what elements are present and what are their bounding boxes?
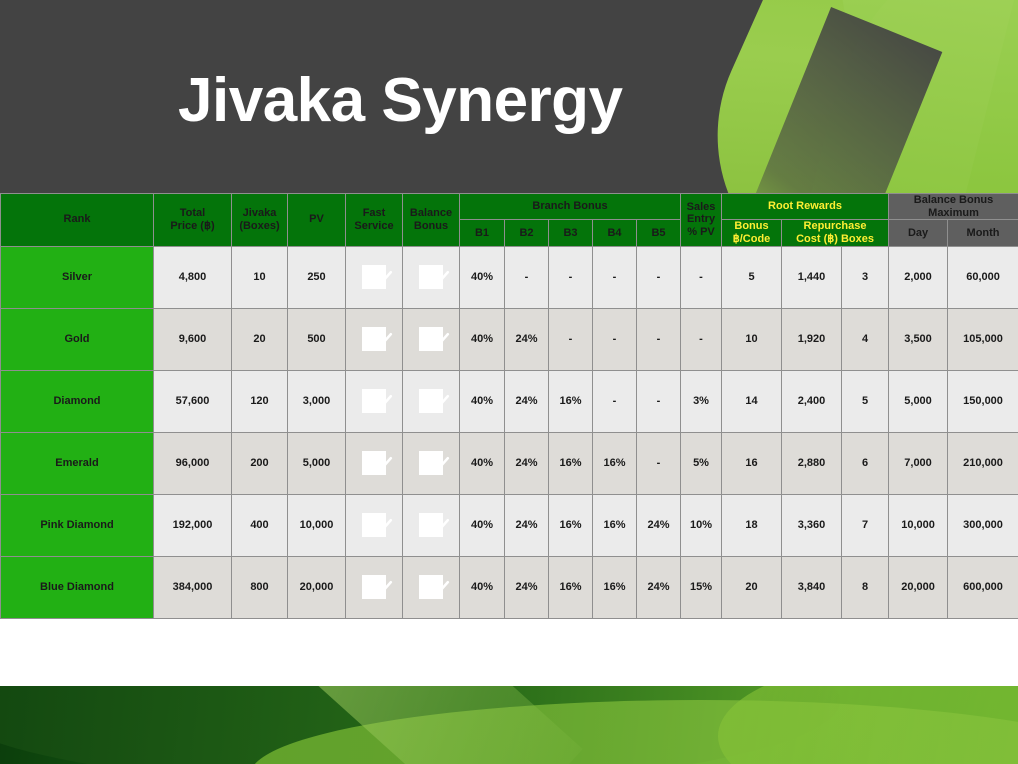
cell-balance-bonus [403,432,460,494]
check-mark-icon [346,495,402,556]
slide-canvas: Jivaka Synergy Rank Total Price (฿) [0,0,1018,764]
table-row: Gold9,6002050040%24%----101,92043,500105… [1,308,1018,370]
cell-total-price: 384,000 [154,556,232,618]
cell-pv: 10,000 [288,494,346,556]
cell-b3: - [549,308,593,370]
cell-bonus-code: 20 [722,556,782,618]
table-row: Diamond57,6001203,00040%24%16%--3%142,40… [1,370,1018,432]
sales-entry-line2: Entry [687,213,715,225]
bottom-decoration-band [0,686,1018,764]
check-mark-icon [346,309,402,370]
check-mark-icon [403,371,459,432]
cell-balance-bonus-day: 5,000 [889,370,948,432]
cell-jivaka-boxes: 200 [232,432,288,494]
cell-b5: - [637,246,681,308]
cell-b1: 40% [460,556,505,618]
repurchase-line1: Repurchase [804,220,867,232]
cell-total-price: 192,000 [154,494,232,556]
cell-fast-service [346,246,403,308]
col-header-b3: B3 [549,220,593,246]
cell-fast-service [346,370,403,432]
cell-pv: 5,000 [288,432,346,494]
cell-repurchase-boxes: 4 [842,308,889,370]
cell-jivaka-boxes: 800 [232,556,288,618]
cell-fast-service [346,494,403,556]
cell-jivaka-boxes: 20 [232,308,288,370]
cell-total-price: 96,000 [154,432,232,494]
cell-b2: 24% [505,494,549,556]
cell-b1: 40% [460,308,505,370]
total-price-line2: Price (฿) [170,220,214,232]
bonus-code-line1: Bonus [734,220,768,232]
cell-repurchase-boxes: 7 [842,494,889,556]
cell-balance-bonus [403,494,460,556]
cell-sales-entry-pv: 5% [681,432,722,494]
bonus-code-line2: ฿/Code [733,233,771,245]
col-header-fast-service: Fast Service [346,194,403,247]
table-row: Blue Diamond384,00080020,00040%24%16%16%… [1,556,1018,618]
cell-rank: Pink Diamond [1,494,154,556]
cell-pv: 250 [288,246,346,308]
cell-b2: 24% [505,370,549,432]
col-header-rank: Rank [1,194,154,247]
cell-balance-bonus-day: 3,500 [889,308,948,370]
sales-entry-line1: Sales [687,201,716,213]
col-header-bonus-code: Bonus ฿/Code [722,220,782,246]
cell-b4: 16% [593,556,637,618]
compensation-table: Rank Total Price (฿) Jivaka (Boxes) PV F… [0,193,1018,619]
cell-b4: - [593,370,637,432]
cell-b4: - [593,308,637,370]
col-header-day: Day [889,220,948,246]
dark-shadow-decoration [734,7,943,193]
cell-balance-bonus [403,556,460,618]
repurchase-line2: Cost (฿) Boxes [796,233,874,245]
green-ribbon-decoration-3 [790,0,1015,193]
cell-pv: 500 [288,308,346,370]
col-header-balance-bonus: Balance Bonus [403,194,460,247]
cell-b4: 16% [593,494,637,556]
cell-balance-bonus [403,370,460,432]
cell-fast-service [346,556,403,618]
cell-fast-service [346,432,403,494]
cell-b2: 24% [505,432,549,494]
table-head: Rank Total Price (฿) Jivaka (Boxes) PV F… [1,194,1018,247]
cell-b3: 16% [549,494,593,556]
table-row: Silver4,8001025040%-----51,44032,00060,0… [1,246,1018,308]
header-row-top: Rank Total Price (฿) Jivaka (Boxes) PV F… [1,194,1018,220]
fast-service-line2: Service [354,220,393,232]
fast-service-line1: Fast [363,207,386,219]
cell-b5: 24% [637,494,681,556]
cell-balance-bonus-month: 300,000 [948,494,1018,556]
cell-repurchase-cost: 2,880 [782,432,842,494]
cell-repurchase-cost: 1,440 [782,246,842,308]
balance-bonus-line2: Bonus [414,220,448,232]
cell-b4: 16% [593,432,637,494]
cell-balance-bonus [403,246,460,308]
sales-entry-line3: % PV [687,226,715,238]
cell-b2: 24% [505,556,549,618]
cell-repurchase-boxes: 3 [842,246,889,308]
cell-sales-entry-pv: 10% [681,494,722,556]
cell-jivaka-boxes: 120 [232,370,288,432]
check-mark-icon [403,309,459,370]
check-mark-icon [403,433,459,494]
cell-repurchase-boxes: 5 [842,370,889,432]
cell-bonus-code: 5 [722,246,782,308]
cell-b5: - [637,432,681,494]
check-mark-icon [346,247,402,308]
col-header-sales-entry-pv: Sales Entry % PV [681,194,722,247]
cell-rank: Blue Diamond [1,556,154,618]
cell-repurchase-boxes: 6 [842,432,889,494]
cell-balance-bonus-month: 600,000 [948,556,1018,618]
cell-sales-entry-pv: - [681,308,722,370]
cell-pv: 3,000 [288,370,346,432]
col-header-pv: PV [288,194,346,247]
cell-balance-bonus-day: 20,000 [889,556,948,618]
cell-b1: 40% [460,370,505,432]
cell-b2: - [505,246,549,308]
cell-b3: 16% [549,556,593,618]
cell-bonus-code: 14 [722,370,782,432]
cell-rank: Diamond [1,370,154,432]
cell-balance-bonus-day: 10,000 [889,494,948,556]
cell-b5: - [637,308,681,370]
cell-sales-entry-pv: 3% [681,370,722,432]
cell-jivaka-boxes: 10 [232,246,288,308]
cell-total-price: 9,600 [154,308,232,370]
cell-repurchase-cost: 3,840 [782,556,842,618]
check-mark-icon [346,371,402,432]
cell-balance-bonus-day: 7,000 [889,432,948,494]
bottom-swoosh-4 [718,686,1018,764]
cell-b1: 40% [460,494,505,556]
cell-b2: 24% [505,308,549,370]
cell-balance-bonus-month: 60,000 [948,246,1018,308]
cell-balance-bonus-month: 150,000 [948,370,1018,432]
cell-total-price: 57,600 [154,370,232,432]
table-row: Emerald96,0002005,00040%24%16%16%-5%162,… [1,432,1018,494]
cell-b1: 40% [460,246,505,308]
cell-pv: 20,000 [288,556,346,618]
check-mark-icon [346,557,402,618]
cell-b3: - [549,246,593,308]
col-header-jivaka-boxes: Jivaka (Boxes) [232,194,288,247]
total-price-line1: Total [180,207,205,219]
cell-rank: Gold [1,308,154,370]
title-band: Jivaka Synergy [0,0,1018,193]
cell-b1: 40% [460,432,505,494]
balance-bonus-line1: Balance [410,207,452,219]
cell-sales-entry-pv: - [681,246,722,308]
check-mark-icon [346,433,402,494]
cell-b3: 16% [549,432,593,494]
cell-bonus-code: 16 [722,432,782,494]
cell-rank: Emerald [1,432,154,494]
check-mark-icon [403,495,459,556]
green-ribbon-decoration-2 [839,0,1018,193]
cell-jivaka-boxes: 400 [232,494,288,556]
cell-total-price: 4,800 [154,246,232,308]
cell-balance-bonus-day: 2,000 [889,246,948,308]
group-header-branch-bonus: Branch Bonus [460,194,681,220]
cell-bonus-code: 10 [722,308,782,370]
col-header-b4: B4 [593,220,637,246]
cell-b3: 16% [549,370,593,432]
col-header-repurchase-cost-boxes: Repurchase Cost (฿) Boxes [782,220,889,246]
cell-balance-bonus [403,308,460,370]
cell-b5: 24% [637,556,681,618]
col-header-b2: B2 [505,220,549,246]
green-ribbon-decoration-1 [666,0,1018,193]
table-body: Silver4,8001025040%-----51,44032,00060,0… [1,246,1018,618]
cell-sales-entry-pv: 15% [681,556,722,618]
cell-repurchase-cost: 3,360 [782,494,842,556]
cell-b4: - [593,246,637,308]
check-mark-icon [403,557,459,618]
col-header-month: Month [948,220,1018,246]
cell-repurchase-cost: 2,400 [782,370,842,432]
cell-balance-bonus-month: 105,000 [948,308,1018,370]
cell-b5: - [637,370,681,432]
cell-fast-service [346,308,403,370]
group-header-root-rewards: Root Rewards [722,194,889,220]
jivaka-line1: Jivaka [243,207,277,219]
col-header-b1: B1 [460,220,505,246]
col-header-total-price: Total Price (฿) [154,194,232,247]
cell-rank: Silver [1,246,154,308]
page-title: Jivaka Synergy [178,70,623,132]
compensation-table-wrapper: Rank Total Price (฿) Jivaka (Boxes) PV F… [0,193,1018,686]
jivaka-line2: (Boxes) [239,220,279,232]
table-row: Pink Diamond192,00040010,00040%24%16%16%… [1,494,1018,556]
col-header-b5: B5 [637,220,681,246]
group-header-balance-bonus-maximum: Balance Bonus Maximum [889,194,1018,220]
cell-bonus-code: 18 [722,494,782,556]
check-mark-icon [403,247,459,308]
cell-repurchase-cost: 1,920 [782,308,842,370]
cell-repurchase-boxes: 8 [842,556,889,618]
cell-balance-bonus-month: 210,000 [948,432,1018,494]
